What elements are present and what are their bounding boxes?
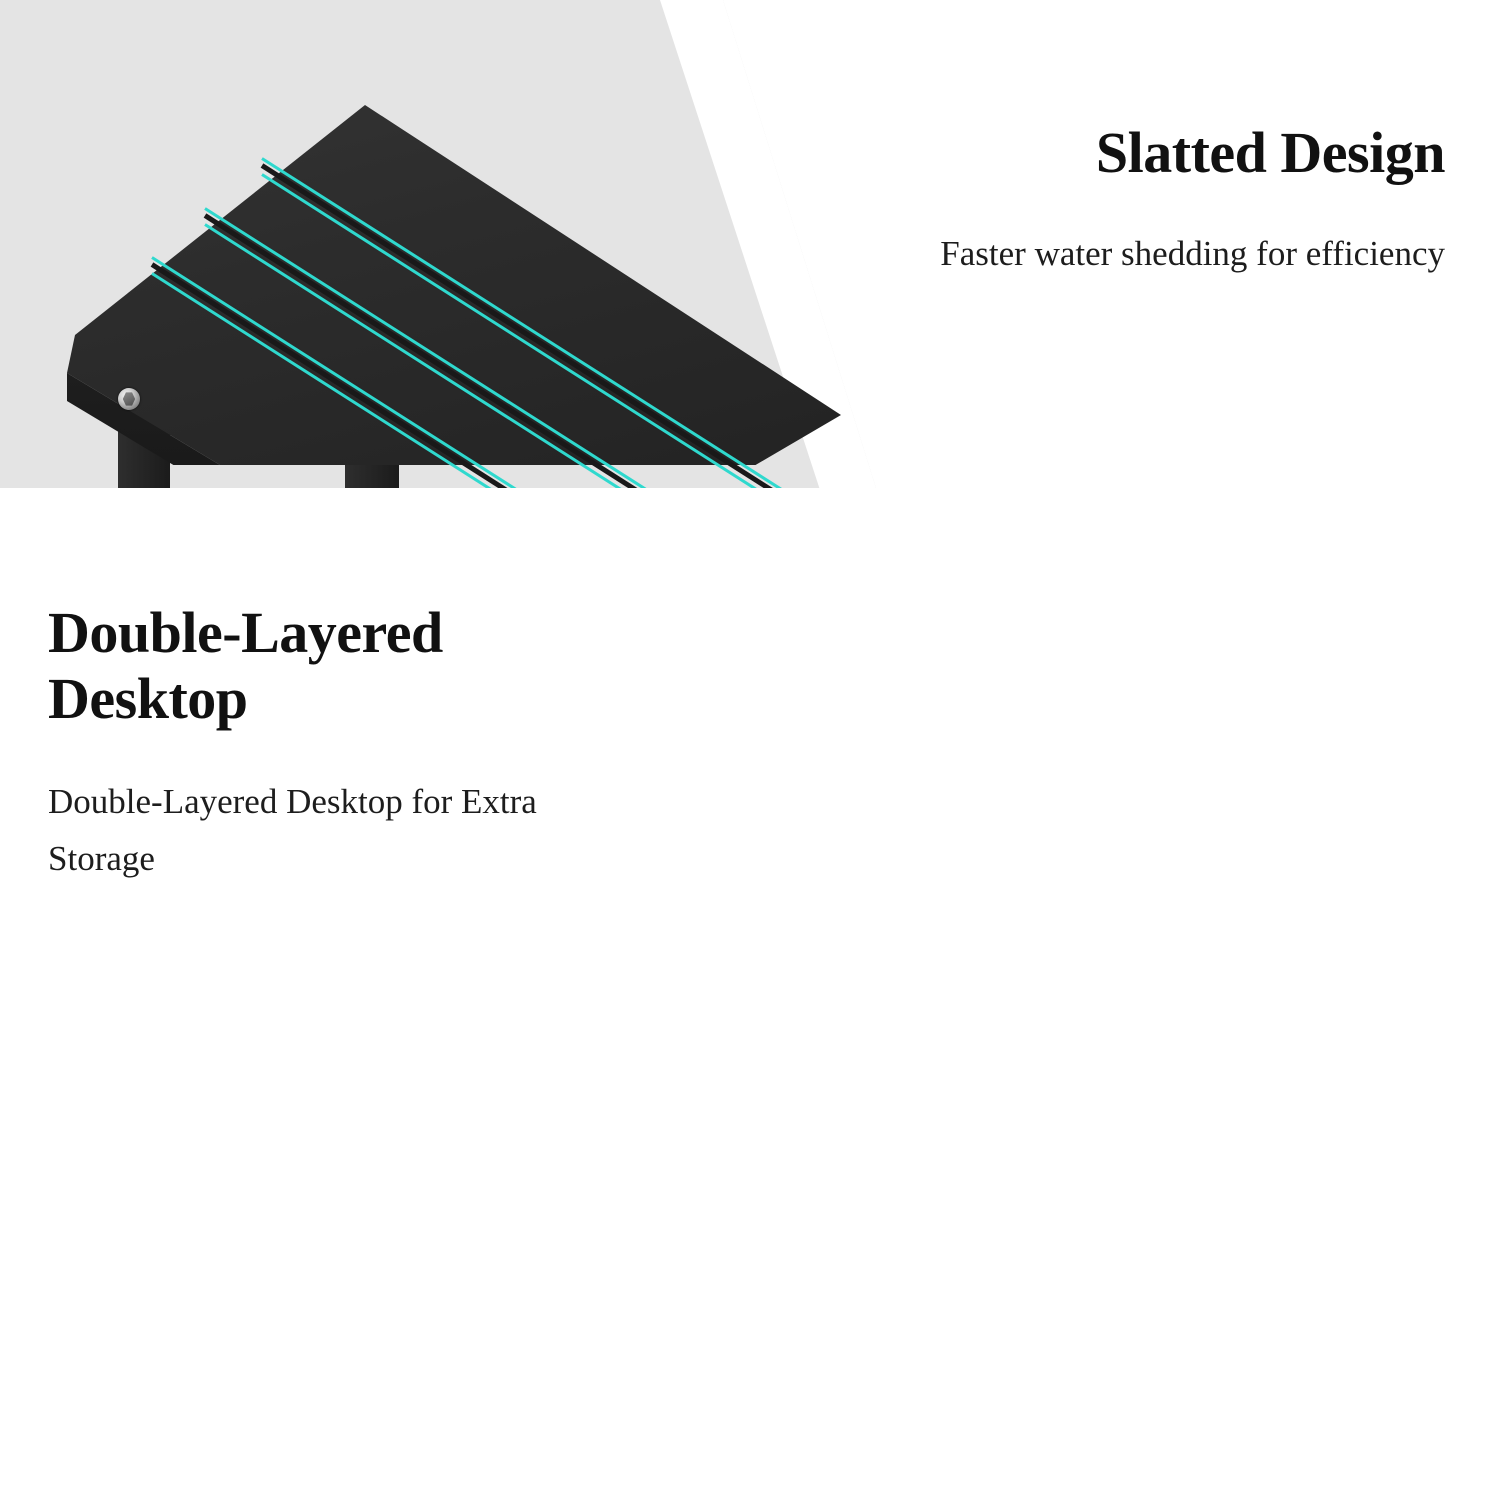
double-layered-desktop-subtitle: Double-Layered Desktop for Extra Storage [48, 774, 588, 887]
screw-hex-socket-icon [123, 392, 135, 405]
infographic-page: Slatted Design Faster water shedding for… [0, 0, 1500, 1500]
double-layered-desktop-title: Double-Layered Desktop [48, 600, 588, 732]
slatted-design-title: Slatted Design [1096, 120, 1445, 186]
slatted-tabletop-photo [0, 0, 880, 490]
feature-panel-double-layered-desktop: Double-Layered Desktop Double-Layered De… [0, 500, 1500, 1000]
double-layered-desktop-text-block: Double-Layered Desktop Double-Layered De… [48, 600, 588, 888]
feature-panel-slatted-design: Slatted Design Faster water shedding for… [0, 0, 1500, 500]
feature-panel-blunted-edge: Blunted Edge Ensures safe play for child… [0, 1000, 1500, 1500]
leg-screw-icon [118, 388, 140, 410]
slatted-design-subtitle: Faster water shedding for efficiency [940, 226, 1445, 283]
slatted-design-text-block: Slatted Design Faster water shedding for… [940, 120, 1445, 283]
